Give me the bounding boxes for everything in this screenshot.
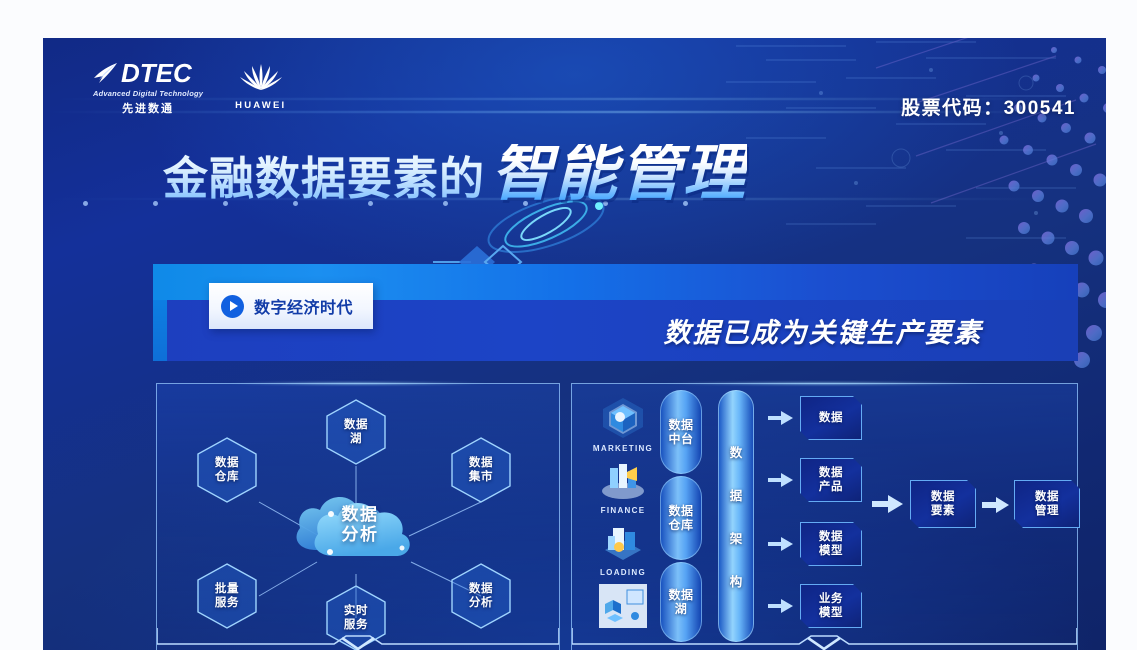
pill-line2: 中台 <box>668 432 693 446</box>
hex-line2: 服务 <box>215 596 239 610</box>
arch-char-3: 架 <box>730 528 743 547</box>
stage-line2: 要素 <box>931 504 955 518</box>
pill-line1: 数据 <box>668 504 693 518</box>
stage-line1: 数据 <box>931 490 955 504</box>
right-diagram-card: MARKETING FINANCE <box>571 383 1078 650</box>
output-box-data-product[interactable]: 数据 产品 <box>800 458 862 502</box>
dtec-chinese-name: 先进数通 <box>93 100 203 116</box>
dashboard-icon <box>597 582 649 630</box>
bank-icon <box>599 458 647 500</box>
source-loading[interactable]: LOADING <box>586 520 660 582</box>
hex-node-data-lake[interactable]: 数据湖 <box>324 398 388 466</box>
section-banner: 数字经济时代 数据已成为关键生产要素 <box>153 264 1078 361</box>
stock-code: 股票代码：300541 <box>901 93 1076 120</box>
obox-line1: 数据 <box>819 411 843 425</box>
obox-line1: 数据 <box>819 530 843 544</box>
section-tag[interactable]: 数字经济时代 <box>209 283 373 329</box>
cloud-label-line1: 数据 <box>342 506 379 526</box>
stage-line1: 数据 <box>1035 490 1059 504</box>
hex-line2: 仓库 <box>215 470 239 484</box>
title-block: 金融数据要素的 智能管理 <box>43 142 1106 220</box>
title-strong: 智能管理 <box>491 144 747 203</box>
stage-box-data-element[interactable]: 数据 要素 <box>910 480 976 528</box>
cloud-node: 数据 分析 <box>288 478 418 570</box>
output-box-data[interactable]: 数据 <box>800 396 862 440</box>
obox-line2: 模型 <box>819 606 843 620</box>
card-bottom-chevron <box>157 628 559 650</box>
hex-line2: 分析 <box>469 596 493 610</box>
hex-node-data-mart[interactable]: 数据集市 <box>449 436 513 504</box>
pill-line2: 仓库 <box>668 518 693 532</box>
cloud-node-label: 数据 分析 <box>288 478 418 570</box>
card-bottom-chevron <box>572 628 1077 650</box>
obox-line2: 产品 <box>819 480 843 494</box>
hex-node-data-warehouse[interactable]: 数据仓库 <box>195 436 259 504</box>
pill-line1: 数据 <box>668 418 693 432</box>
arrow-icon <box>768 410 794 426</box>
logo-group: DTEC Advanced Digital Technology 先进数通 HU… <box>93 60 286 116</box>
pill-data-midplatform[interactable]: 数据中台 <box>660 390 702 474</box>
output-box-data-model[interactable]: 数据 模型 <box>800 522 862 566</box>
huawei-logo: HUAWEI <box>235 60 286 111</box>
cloud-label-line2: 分析 <box>342 526 379 546</box>
source-marketing[interactable]: MARKETING <box>586 396 660 458</box>
play-icon <box>221 295 244 318</box>
arrow-icon <box>982 496 1010 514</box>
hex-node-data-analysis[interactable]: 数据分析 <box>449 562 513 630</box>
cube-icon <box>599 396 647 438</box>
hex-line2: 湖 <box>350 432 362 446</box>
data-source-column: MARKETING FINANCE <box>586 396 660 638</box>
arch-char-1: 数 <box>730 442 743 461</box>
dtec-logo: DTEC Advanced Digital Technology 先进数通 <box>93 60 203 116</box>
source-caption: MARKETING <box>586 444 660 453</box>
hex-line1: 数据 <box>344 418 368 432</box>
arrow-icon <box>768 472 794 488</box>
hex-line1: 实时 <box>344 604 368 618</box>
hex-line1: 数据 <box>469 456 493 470</box>
arch-char-2: 据 <box>730 485 743 504</box>
huawei-wordmark: HUAWEI <box>235 100 286 111</box>
banner-left-edge <box>153 300 167 361</box>
arrow-icon <box>872 494 904 514</box>
stage-box-data-management[interactable]: 数据 管理 <box>1014 480 1080 528</box>
dtec-tagline: Advanced Digital Technology <box>93 89 203 98</box>
presentation-slide: DTEC Advanced Digital Technology 先进数通 HU… <box>43 38 1106 650</box>
source-caption: FINANCE <box>586 506 660 515</box>
source-finance[interactable]: FINANCE <box>586 458 660 520</box>
output-box-business-model[interactable]: 业务 模型 <box>800 584 862 628</box>
card-top-glow <box>663 382 986 385</box>
obox-line1: 数据 <box>819 466 843 480</box>
obox-line2: 模型 <box>819 544 843 558</box>
dtec-mark-icon <box>93 61 119 85</box>
pill-data-architecture[interactable]: 数 据 架 构 <box>718 390 754 642</box>
obox-line1: 业务 <box>819 592 843 606</box>
dtec-wordmark: DTEC <box>121 60 192 86</box>
arrow-icon <box>768 536 794 552</box>
source-caption: LOADING <box>586 568 660 577</box>
huawei-flower-icon <box>240 62 282 92</box>
hex-line1: 数据 <box>469 582 493 596</box>
arrow-icon <box>768 598 794 614</box>
pill-line1: 数据 <box>668 588 693 602</box>
pill-data-warehouse[interactable]: 数据仓库 <box>660 476 702 560</box>
section-tag-label: 数字经济时代 <box>254 294 353 318</box>
banner-headline: 数据已成为关键生产要素 <box>573 304 1073 356</box>
title-plain: 金融数据要素的 <box>163 142 485 207</box>
hex-line2: 集市 <box>469 470 493 484</box>
server-icon <box>599 520 647 562</box>
arch-char-4: 构 <box>730 571 743 590</box>
hex-line1: 数据 <box>215 456 239 470</box>
stage-line2: 管理 <box>1035 504 1059 518</box>
pill-line2: 湖 <box>675 602 688 616</box>
hex-node-batch-service[interactable]: 批量服务 <box>195 562 259 630</box>
hex-line1: 批量 <box>215 582 239 596</box>
left-diagram-card: 数据 分析 数据湖 数据仓库 数据集市 批量服务 实时服务 数据分析 <box>156 383 560 650</box>
